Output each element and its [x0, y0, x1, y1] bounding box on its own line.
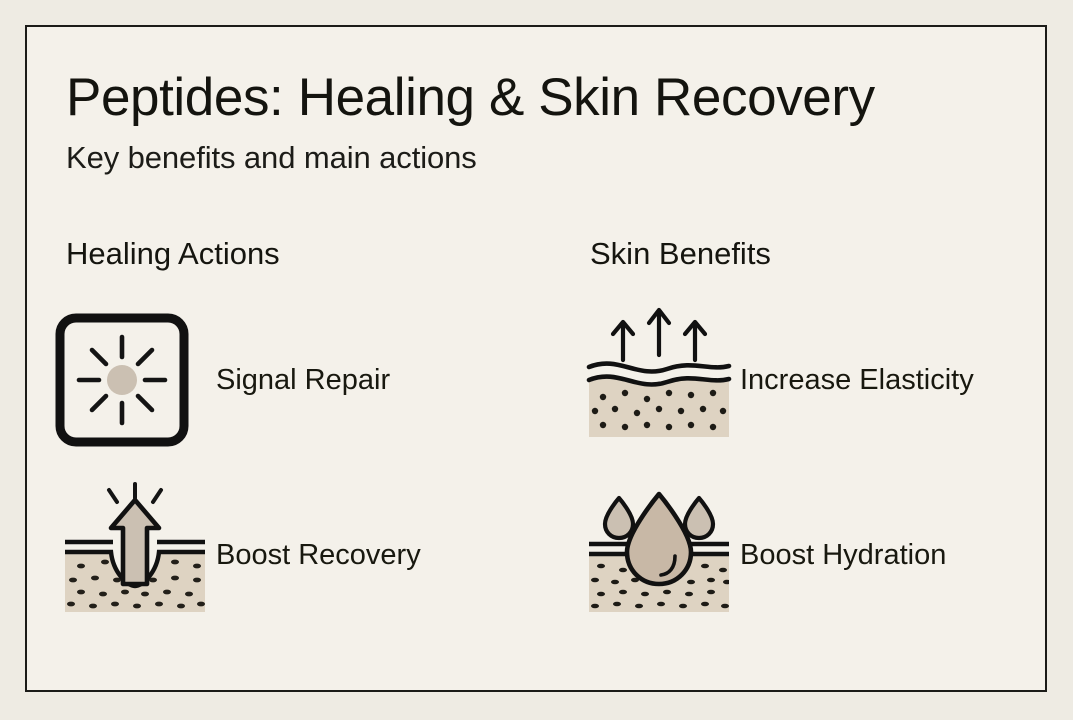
- list-item-label: Boost Hydration: [740, 480, 946, 630]
- list-item: Boost Hydration: [571, 480, 1041, 630]
- column-heading-skin-benefits: Skin Benefits: [590, 236, 771, 272]
- column-heading-healing-actions: Healing Actions: [66, 236, 280, 272]
- signal-burst-icon: [47, 305, 222, 455]
- list-item-label: Signal Repair: [216, 305, 390, 455]
- page-subtitle: Key benefits and main actions: [66, 140, 477, 176]
- list-item-label: Boost Recovery: [216, 480, 421, 630]
- poster-frame: Peptides: Healing & Skin Recovery Key be…: [25, 25, 1047, 692]
- arrows-up-wavy-skin-icon: [571, 305, 746, 455]
- water-droplets-skin-icon: [571, 480, 746, 630]
- list-item: Signal Repair: [47, 305, 517, 455]
- list-item: Increase Elasticity: [571, 305, 1041, 455]
- list-item-label: Increase Elasticity: [740, 305, 974, 455]
- list-item: Boost Recovery: [47, 480, 517, 630]
- page-title: Peptides: Healing & Skin Recovery: [66, 67, 875, 128]
- poster: Peptides: Healing & Skin Recovery Key be…: [0, 0, 1073, 720]
- poster-content: Peptides: Healing & Skin Recovery Key be…: [27, 27, 1049, 694]
- arrow-up-from-skin-icon: [47, 480, 222, 630]
